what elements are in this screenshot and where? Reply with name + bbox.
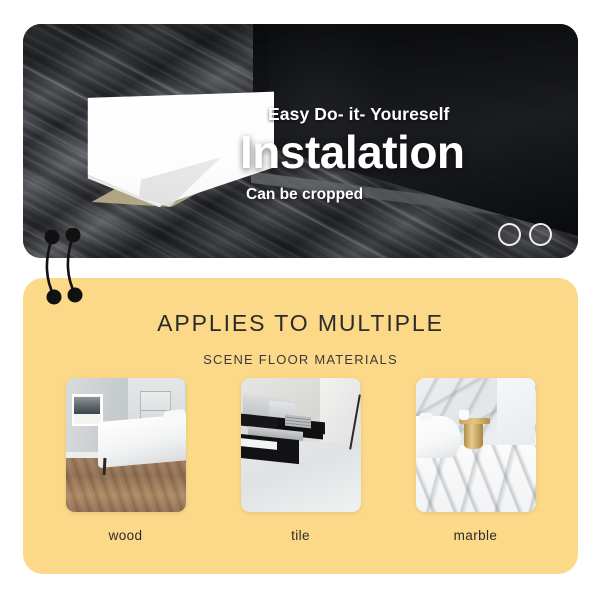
applies-title: APPLIES TO MULTIPLE (23, 310, 578, 337)
material-item-tile[interactable]: tile (241, 378, 361, 543)
marble-bathtub (416, 416, 462, 459)
marble-cup (459, 410, 470, 419)
material-item-marble[interactable]: marble (416, 378, 536, 543)
marble-tub-cup (420, 413, 432, 421)
material-thumbnail-row: wood tile (23, 378, 578, 543)
wood-pillow (163, 409, 185, 429)
marble-panel (497, 378, 535, 448)
wood-baseboard (66, 452, 98, 459)
thumbnail-wood[interactable] (66, 378, 186, 512)
hero-kicker: Easy Do- it- Youreself (268, 104, 560, 125)
pagination-dots[interactable] (498, 223, 552, 246)
pagination-dot-2[interactable] (529, 223, 552, 246)
wood-window-picture (74, 397, 100, 414)
wood-bed-leg (102, 458, 106, 476)
product-listing-image: Easy Do- it- Youreself Instalation Can b… (0, 0, 600, 600)
thumbnail-tile[interactable] (241, 378, 361, 512)
pagination-dot-1[interactable] (498, 223, 521, 246)
material-item-wood[interactable]: wood (66, 378, 186, 543)
hero-card[interactable]: Easy Do- it- Youreself Instalation Can b… (23, 24, 578, 258)
hero-text-block: Easy Do- it- Youreself Instalation Can b… (240, 104, 560, 204)
hero-subtitle: Can be cropped (246, 186, 560, 204)
material-label-marble: marble (454, 528, 498, 543)
tile-books (285, 414, 311, 427)
marble-table-leg (464, 422, 483, 449)
thumbnail-marble[interactable] (416, 378, 536, 512)
material-label-wood: wood (109, 528, 143, 543)
applies-subtitle: SCENE FLOOR MATERIALS (23, 352, 578, 367)
applies-to-multiple-card[interactable]: APPLIES TO MULTIPLE SCENE FLOOR MATERIAL… (23, 278, 578, 574)
hero-title: Instalation (240, 129, 560, 177)
material-label-tile: tile (291, 528, 310, 543)
